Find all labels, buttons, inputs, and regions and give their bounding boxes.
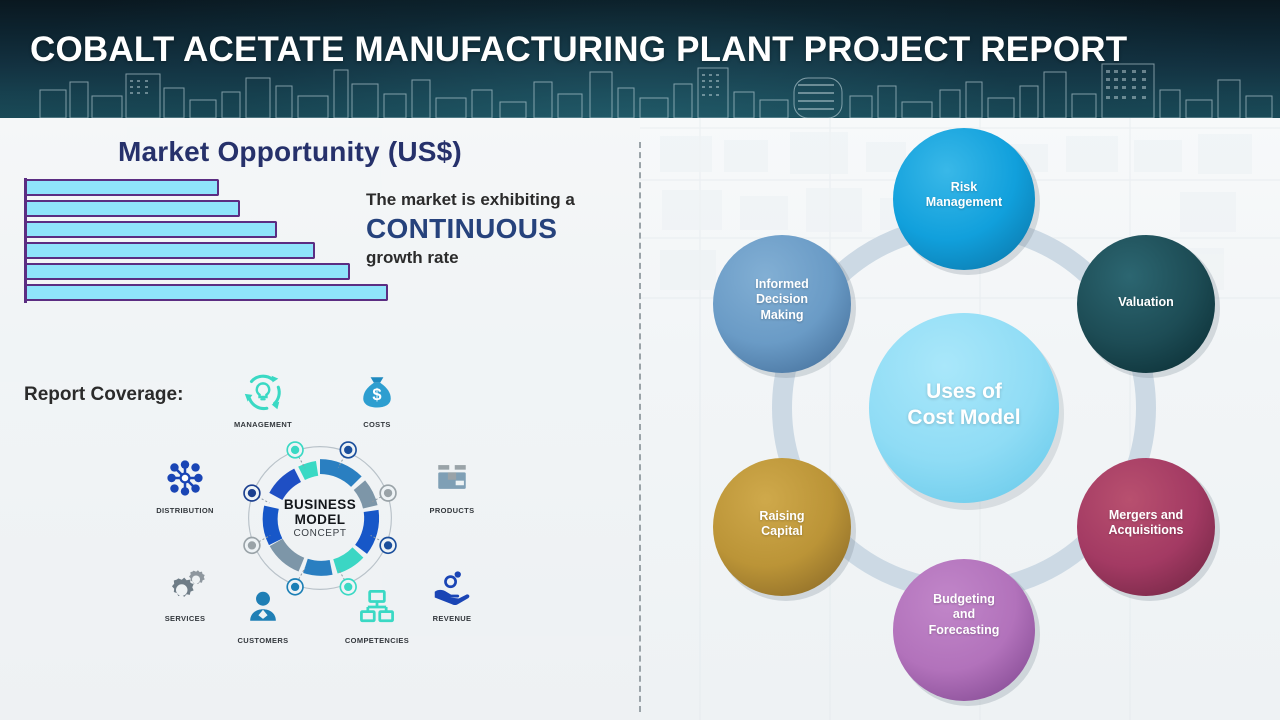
node-valuation xyxy=(1077,235,1215,373)
callout-line-1: The market is exhibiting a xyxy=(366,190,636,210)
icon-management: MANAGEMENT xyxy=(226,369,300,429)
icon-management-label: MANAGEMENT xyxy=(226,420,300,429)
icon-products-label: PRODUCTS xyxy=(415,506,489,515)
left-panel: Market Opportunity (US$) The market is e… xyxy=(0,118,639,720)
distribution-icon xyxy=(148,455,222,503)
icon-revenue: REVENUE xyxy=(415,563,489,623)
icon-competencies-label: COMPETENCIES xyxy=(340,636,414,645)
bar-2 xyxy=(27,200,240,217)
uses-of-cost-model-diagram: Risk Management Valuation Mergers and Ac… xyxy=(639,118,1280,720)
icon-services: SERVICES xyxy=(148,563,222,623)
header-banner: COBALT ACETATE MANUFACTURING PLANT PROJE… xyxy=(0,0,1280,118)
market-opportunity-bar-chart xyxy=(24,178,424,303)
icon-revenue-label: REVENUE xyxy=(415,614,489,623)
node-mergers-and-acquisitions xyxy=(1077,458,1215,596)
icon-products: PRODUCTS xyxy=(415,455,489,515)
business-model-diagram: MANAGEMENT $ COSTS xyxy=(140,373,500,693)
bar-3 xyxy=(27,221,277,238)
slide-body: Market Opportunity (US$) The market is e… xyxy=(0,118,1280,720)
node-informed-decision-making xyxy=(713,235,851,373)
bar-6 xyxy=(27,284,388,301)
uses-diagram-svg xyxy=(639,118,1280,720)
node-risk-management xyxy=(893,128,1035,270)
growth-callout: The market is exhibiting a CONTINUOUS gr… xyxy=(366,190,636,269)
bar-4 xyxy=(27,242,315,259)
node-core xyxy=(869,313,1059,503)
services-icon xyxy=(148,563,222,611)
costs-icon: $ xyxy=(340,369,414,417)
icon-customers-label: CUSTOMERS xyxy=(226,636,300,645)
icon-costs: $ COSTS xyxy=(340,369,414,429)
business-model-ring xyxy=(237,435,403,601)
management-icon xyxy=(226,369,300,417)
icon-costs-label: COSTS xyxy=(340,420,414,429)
callout-highlight: CONTINUOUS xyxy=(366,210,636,248)
callout-line-3: growth rate xyxy=(366,248,636,268)
svg-text:$: $ xyxy=(372,386,381,404)
market-opportunity-title: Market Opportunity (US$) xyxy=(118,136,462,168)
bar-5 xyxy=(27,263,350,280)
icon-distribution: DISTRIBUTION xyxy=(148,455,222,515)
node-budgeting-and-forecasting xyxy=(893,559,1035,701)
icon-distribution-label: DISTRIBUTION xyxy=(148,506,222,515)
icon-services-label: SERVICES xyxy=(148,614,222,623)
node-raising-capital xyxy=(713,458,851,596)
products-icon xyxy=(415,455,489,503)
revenue-icon xyxy=(415,563,489,611)
page-title: COBALT ACETATE MANUFACTURING PLANT PROJE… xyxy=(30,30,1127,70)
bar-1 xyxy=(27,179,219,196)
